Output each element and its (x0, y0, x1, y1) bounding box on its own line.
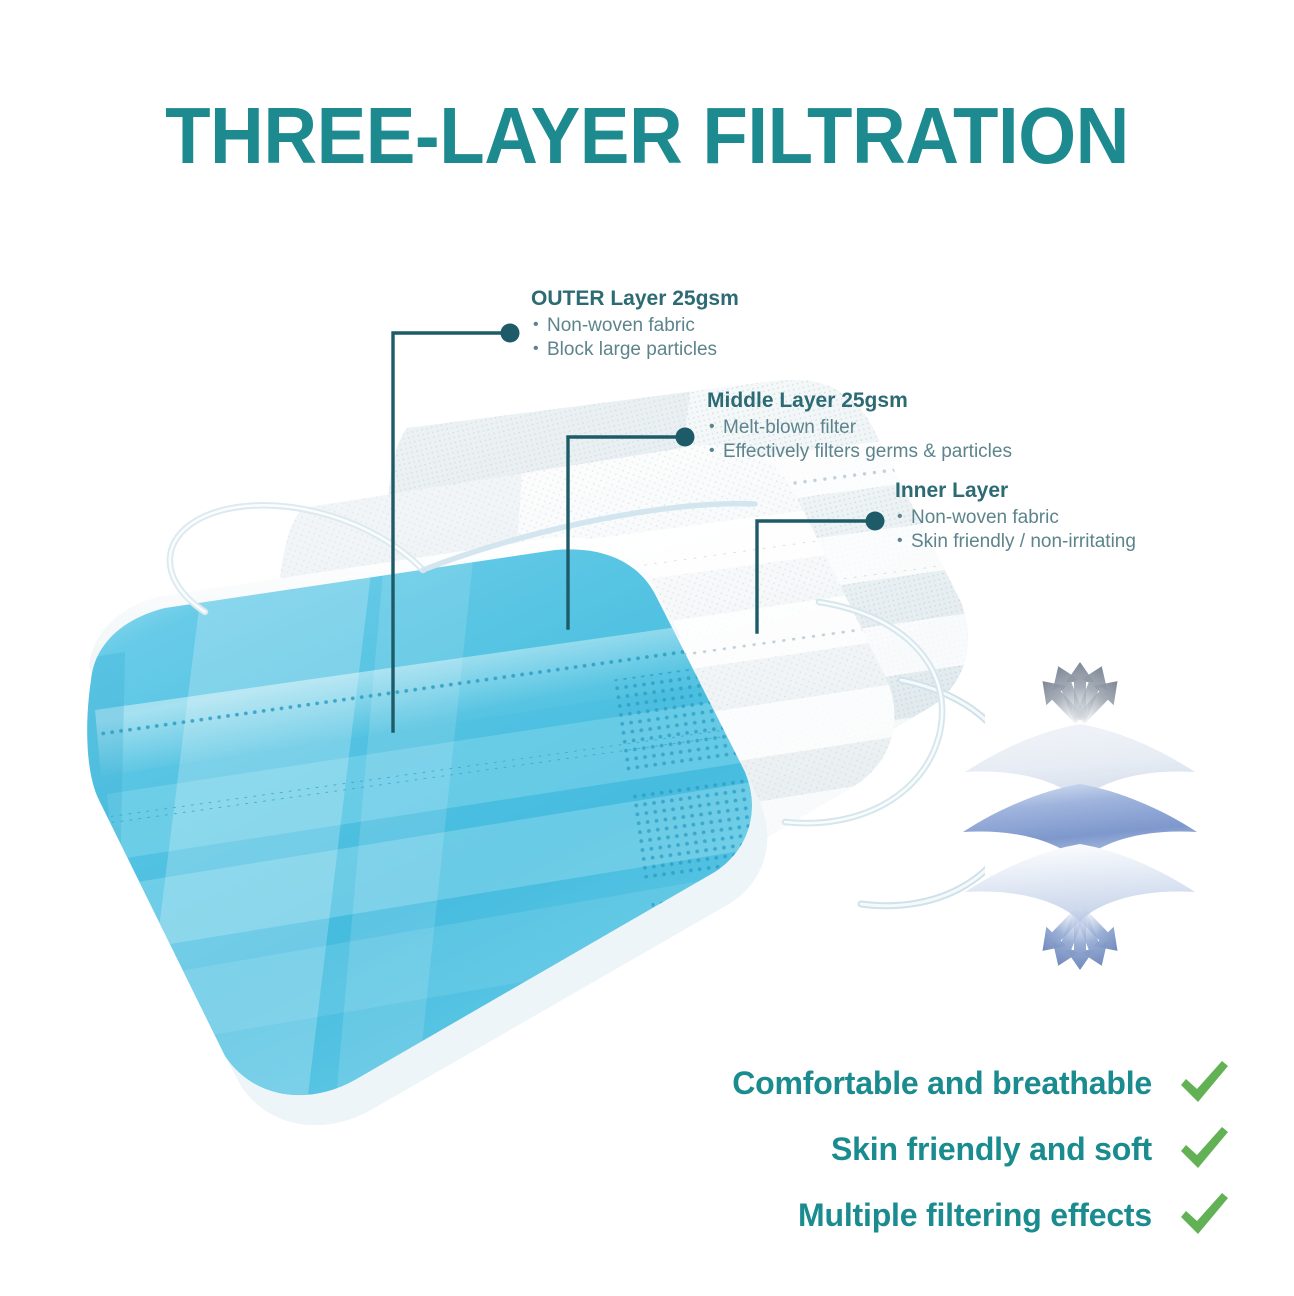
callout-inner-heading: Inner Layer (895, 478, 1136, 504)
callout-outer-layer: OUTER Layer 25gsm Non-woven fabric Block… (531, 286, 739, 362)
callout-middle-bullets: Melt-blown filter Effectively filters ge… (707, 416, 1012, 464)
filter-sheets (963, 724, 1197, 922)
callout-outer-bullets: Non-woven fabric Block large particles (531, 314, 739, 362)
page-title: THREE-LAYER FILTRATION (45, 96, 1248, 176)
callout-inner-layer: Inner Layer Non-woven fabric Skin friend… (895, 478, 1136, 554)
check-mark-icon (1174, 1124, 1234, 1174)
feature-label-skin-friendly: Skin friendly and soft (831, 1131, 1152, 1168)
callout-outer-bullet-1: Non-woven fabric (531, 314, 739, 338)
feature-label-multiple-filtering: Multiple filtering effects (798, 1197, 1152, 1234)
feature-row-comfortable: Comfortable and breathable (614, 1050, 1234, 1116)
callout-middle-layer: Middle Layer 25gsm Melt-blown filter Eff… (707, 388, 1012, 464)
feature-row-skin-friendly: Skin friendly and soft (614, 1116, 1234, 1182)
callout-inner-bullets: Non-woven fabric Skin friendly / non-irr… (895, 506, 1136, 554)
callout-middle-heading: Middle Layer 25gsm (707, 388, 1012, 414)
feature-list: Comfortable and breathable Skin friendly… (614, 1050, 1234, 1248)
leader-dot-outer (501, 324, 520, 343)
callout-inner-bullet-1: Non-woven fabric (895, 506, 1136, 530)
airflow-arrows-down (1032, 902, 1127, 970)
three-layer-airflow-diagram (935, 650, 1225, 970)
airflow-arrows-up (1032, 661, 1127, 730)
feature-row-multiple-filtering: Multiple filtering effects (614, 1182, 1234, 1248)
callout-inner-bullet-2: Skin friendly / non-irritating (895, 530, 1136, 554)
callout-outer-heading: OUTER Layer 25gsm (531, 286, 739, 312)
callout-middle-bullet-1: Melt-blown filter (707, 416, 1012, 440)
check-mark-icon (1174, 1190, 1234, 1240)
callout-middle-bullet-2: Effectively filters germs & particles (707, 440, 1012, 464)
feature-label-comfortable: Comfortable and breathable (732, 1065, 1152, 1102)
infographic-canvas: THREE-LAYER FILTRATION (0, 0, 1294, 1296)
callout-outer-bullet-2: Block large particles (531, 338, 739, 362)
check-mark-icon (1174, 1058, 1234, 1108)
